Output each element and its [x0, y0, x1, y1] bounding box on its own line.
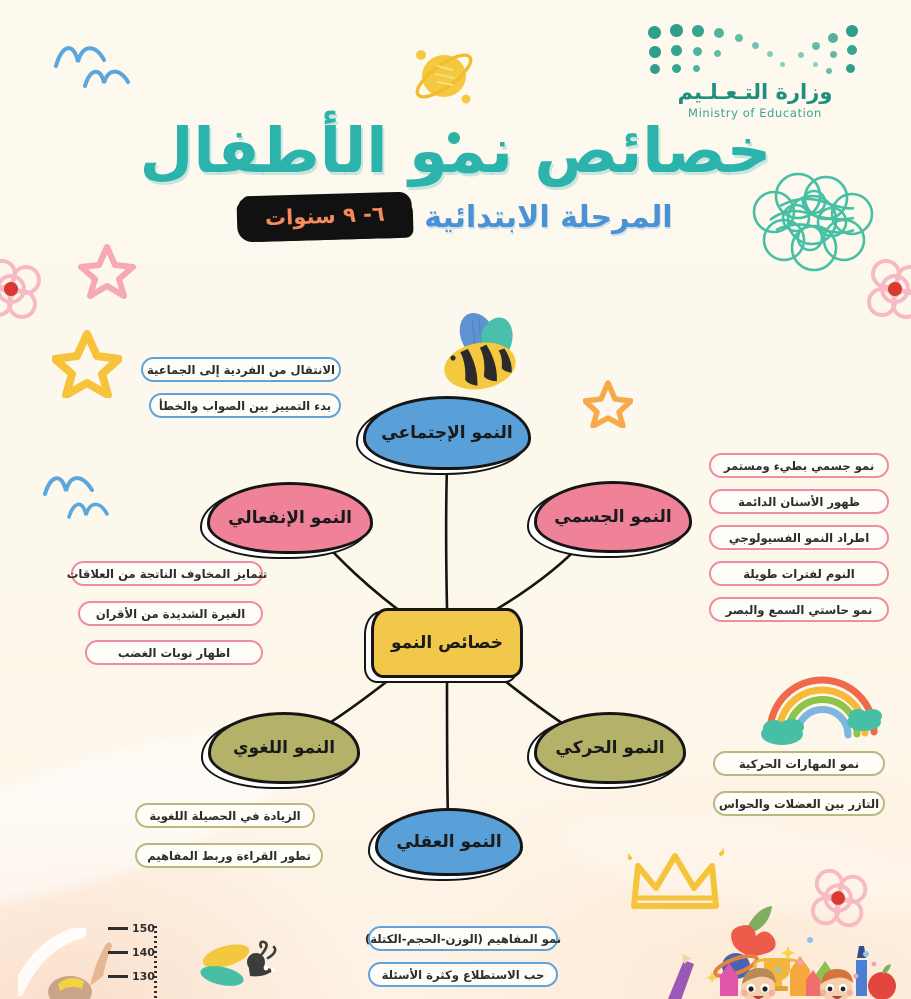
pill-label: النوم لفترات طويلة [743, 567, 854, 581]
pill-label: حب الاستطلاع وكثرة الأسئلة [382, 968, 545, 982]
ruler-tick-mark [108, 927, 128, 930]
pill-label: نمو المفاهيم (الوزن-الحجم-الكتلة) [365, 932, 561, 946]
branch-node-motor[interactable]: النمو الحركي [534, 712, 686, 784]
detail-pill-social-1[interactable]: الانتقال من الفردية إلى الجماعية [141, 357, 341, 382]
detail-pill-motor-1[interactable]: نمو المهارات الحركية [713, 751, 885, 776]
detail-pill-emotional-2[interactable]: الغيرة الشديدة من الأقران [78, 601, 263, 626]
detail-pill-language-2[interactable]: تطور القراءة وربط المفاهيم [135, 843, 323, 868]
branch-node-label: النمو العقلي [386, 833, 511, 852]
branch-node-emotional[interactable]: النمو الإنفعالي [207, 482, 373, 554]
pill-label: نمو حاستي السمع والبصر [726, 603, 873, 617]
kids-illustration [660, 900, 910, 999]
detail-pill-emotional-3[interactable]: اظهار نوبات الغضب [85, 640, 263, 665]
detail-pill-language-1[interactable]: الزيادة في الحصيلة اللغوية [135, 803, 315, 828]
ruler-spine [154, 926, 157, 999]
ruler-tick-mark [108, 975, 128, 978]
branch-node-label: النمو الجسمي [544, 508, 681, 527]
pill-label: تطور القراءة وربط المفاهيم [147, 849, 311, 863]
branch-node-language[interactable]: النمو اللغوي [208, 712, 360, 784]
height-ruler: 150 140 130 [108, 922, 168, 999]
branch-node-label: النمو الإنفعالي [218, 509, 362, 528]
ruler-tick-mark [108, 951, 128, 954]
pill-label: بدء التمييز بين الصواب والخطأ [159, 399, 331, 413]
detail-pill-physical-1[interactable]: نمو جسمي بطيء ومستمر [709, 453, 889, 478]
detail-pill-physical-4[interactable]: النوم لفترات طويلة [709, 561, 889, 586]
detail-pill-physical-2[interactable]: ظهور الأسنان الدائمة [709, 489, 889, 514]
pill-label: الانتقال من الفردية إلى الجماعية [147, 363, 335, 377]
pill-label: نمو جسمي بطيء ومستمر [724, 459, 874, 473]
detail-pill-physical-5[interactable]: نمو حاستي السمع والبصر [709, 597, 889, 622]
pill-label: نمو المهارات الحركية [739, 757, 859, 771]
pill-label: اظهار نوبات الغضب [118, 646, 230, 660]
pill-label: تتمايز المخاوف الناتجة من العلاقات [67, 567, 267, 581]
detail-pill-physical-3[interactable]: اطراد النمو الفسيولوجي [709, 525, 889, 550]
detail-pill-emotional-1[interactable]: تتمايز المخاوف الناتجة من العلاقات [71, 561, 263, 586]
detail-pill-social-2[interactable]: بدء التمييز بين الصواب والخطأ [149, 393, 341, 418]
poster-canvas: وزارة التـعـلـيم Ministry of Education خ… [0, 0, 911, 999]
ruler-tick-label: 140 [132, 946, 155, 959]
detail-pill-motor-2[interactable]: التازر بين العضلات والحواس [713, 791, 885, 816]
branch-node-label: النمو الحركي [545, 739, 674, 758]
branch-node-label: النمو اللغوي [223, 739, 345, 758]
center-node-label: خصائص النمو [381, 634, 513, 653]
center-node-growth-characteristics[interactable]: خصائص النمو [371, 608, 523, 678]
dragonfly-doodle-icon [196, 940, 288, 998]
branch-node-social[interactable]: النمو الإجتماعي [363, 396, 531, 470]
ruler-tick-label: 130 [132, 970, 155, 983]
ruler-tick-label: 150 [132, 922, 155, 935]
branch-node-mental[interactable]: النمو العقلي [375, 808, 523, 876]
branch-node-label: النمو الإجتماعي [371, 424, 522, 443]
pill-label: ظهور الأسنان الدائمة [738, 495, 860, 509]
detail-pill-mental-1[interactable]: نمو المفاهيم (الوزن-الحجم-الكتلة) [368, 926, 558, 951]
pill-label: التازر بين العضلات والحواس [719, 797, 879, 811]
pill-label: الغيرة الشديدة من الأقران [96, 607, 245, 621]
detail-pill-mental-2[interactable]: حب الاستطلاع وكثرة الأسئلة [368, 962, 558, 987]
pill-label: اطراد النمو الفسيولوجي [729, 531, 869, 545]
branch-node-physical[interactable]: النمو الجسمي [534, 481, 692, 553]
pill-label: الزيادة في الحصيلة اللغوية [149, 809, 300, 823]
